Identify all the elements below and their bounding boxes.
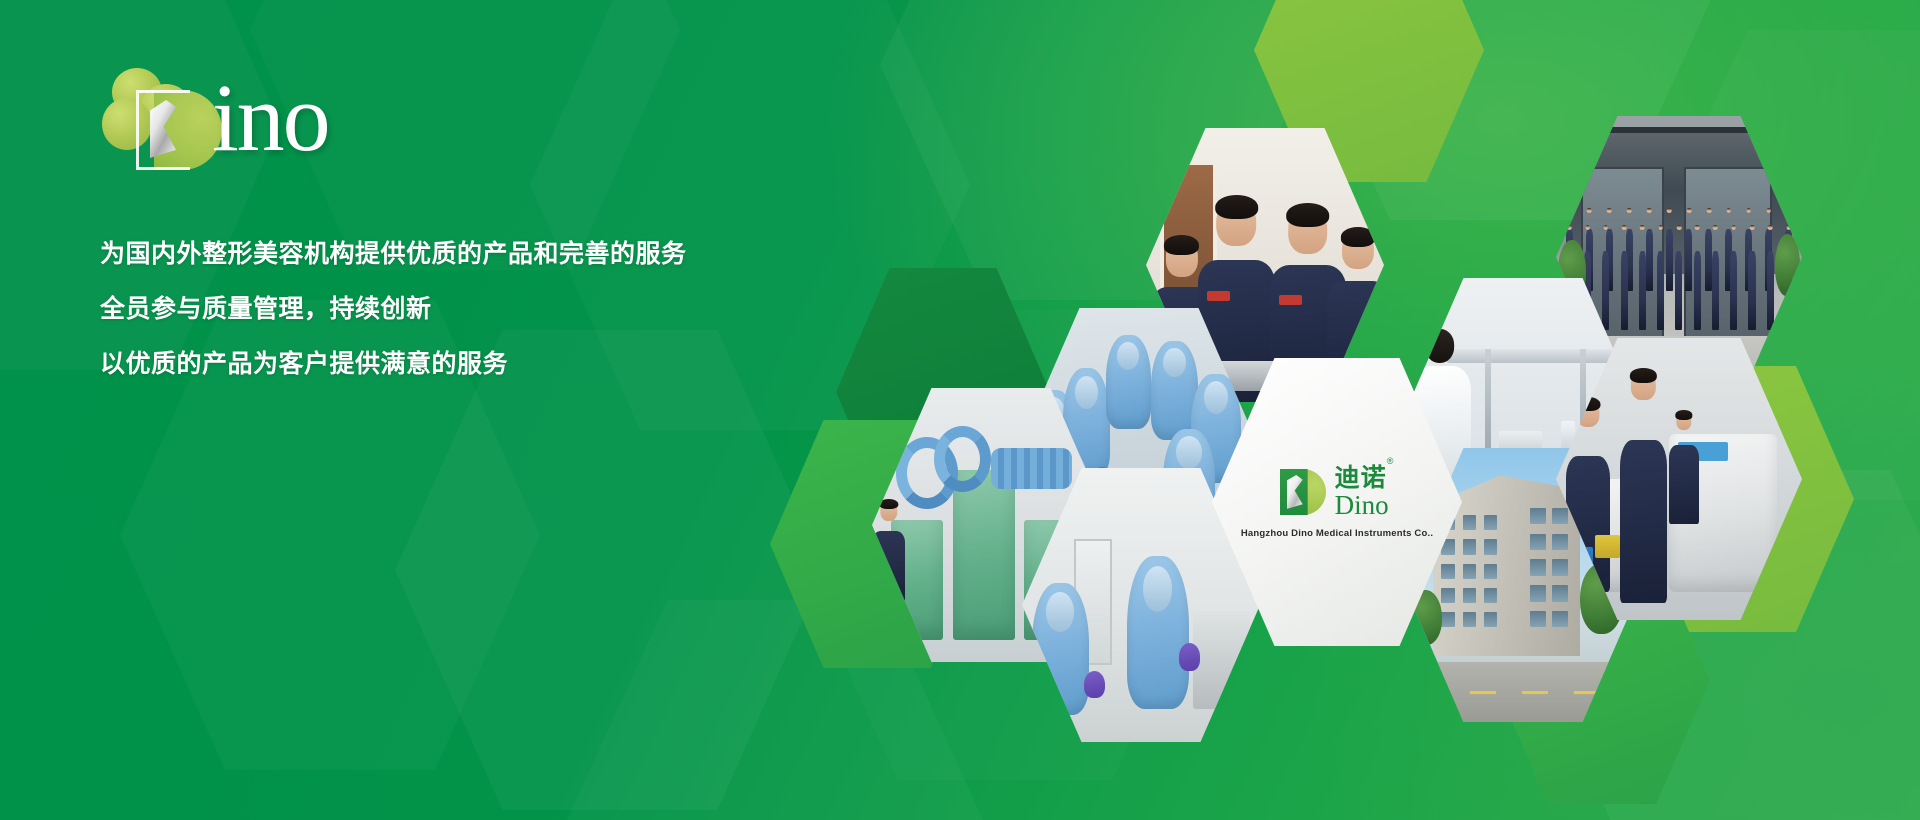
person-head xyxy=(1676,412,1691,430)
window xyxy=(1484,588,1497,603)
window xyxy=(1530,585,1547,601)
window xyxy=(1463,515,1476,530)
staff-person xyxy=(1694,251,1701,330)
window xyxy=(1484,564,1497,579)
person-head xyxy=(1288,207,1328,254)
window xyxy=(1552,585,1569,601)
company-caption: Hangzhou Dino Medical Instruments Co.. xyxy=(1241,528,1433,539)
extraction-duct xyxy=(934,426,991,492)
grinding-machine xyxy=(953,470,1015,640)
staff-person xyxy=(1621,251,1628,330)
window xyxy=(1441,612,1454,627)
person-head xyxy=(1166,239,1198,277)
window xyxy=(1530,534,1547,550)
staff-person xyxy=(1639,251,1646,330)
staff-person xyxy=(1675,251,1682,330)
window xyxy=(1441,564,1454,579)
trademark-icon: ® xyxy=(1387,456,1395,466)
window-grid xyxy=(1530,508,1568,627)
window xyxy=(1552,611,1569,627)
window xyxy=(1530,611,1547,627)
hexagon-collage: 迪诺® Dino Hangzhou Dino Medical Instrumen… xyxy=(0,0,1920,820)
window xyxy=(1530,559,1547,575)
cleanroom-equipment xyxy=(1193,611,1250,710)
window xyxy=(1463,612,1476,627)
window xyxy=(1463,539,1476,554)
card-logo-text: 迪诺® Dino xyxy=(1335,466,1395,519)
person-head xyxy=(1342,231,1374,269)
worker xyxy=(1669,445,1699,524)
person-head xyxy=(880,501,897,521)
window xyxy=(1552,534,1569,550)
shelf-post xyxy=(1485,349,1491,464)
staff-person xyxy=(1767,251,1774,330)
hero-banner: ino 为国内外整形美容机构提供优质的产品和完善的服务 全员参与质量管理，持续创… xyxy=(0,0,1920,820)
company-name-cn-text: 迪诺 xyxy=(1335,464,1387,492)
lab-shelf xyxy=(1447,349,1628,363)
uniform-stripe xyxy=(1207,291,1230,301)
company-name-cn: 迪诺® xyxy=(1335,466,1395,491)
cleanroom-worker xyxy=(1127,556,1189,709)
person-head xyxy=(1425,329,1455,363)
window xyxy=(1463,564,1476,579)
staff-person xyxy=(1602,251,1609,330)
window xyxy=(1484,612,1497,627)
window xyxy=(1441,588,1454,603)
worker xyxy=(1620,440,1667,604)
company-name-en: Dino xyxy=(1335,492,1395,519)
window xyxy=(1484,515,1497,530)
tree-icon xyxy=(1775,234,1800,296)
staff-person xyxy=(1748,251,1755,330)
cleanroom-worker xyxy=(1106,335,1151,428)
extraction-duct xyxy=(991,448,1072,489)
window xyxy=(1552,559,1569,575)
uniform-stripe xyxy=(1279,295,1302,305)
staff-person xyxy=(1730,251,1737,330)
glove-icon xyxy=(1084,671,1105,698)
window xyxy=(1484,539,1497,554)
dino-logo-icon xyxy=(1280,469,1326,515)
staff-person xyxy=(1657,251,1664,330)
staff-person xyxy=(1712,251,1719,330)
card-logo: 迪诺® Dino xyxy=(1280,466,1395,519)
window xyxy=(1463,588,1476,603)
window xyxy=(1552,508,1569,524)
glove-icon xyxy=(1179,643,1200,670)
parts-bin xyxy=(1595,535,1620,558)
window-grid xyxy=(1441,515,1497,627)
person-head xyxy=(1217,200,1257,247)
person-head xyxy=(1631,371,1655,400)
window xyxy=(1530,508,1547,524)
